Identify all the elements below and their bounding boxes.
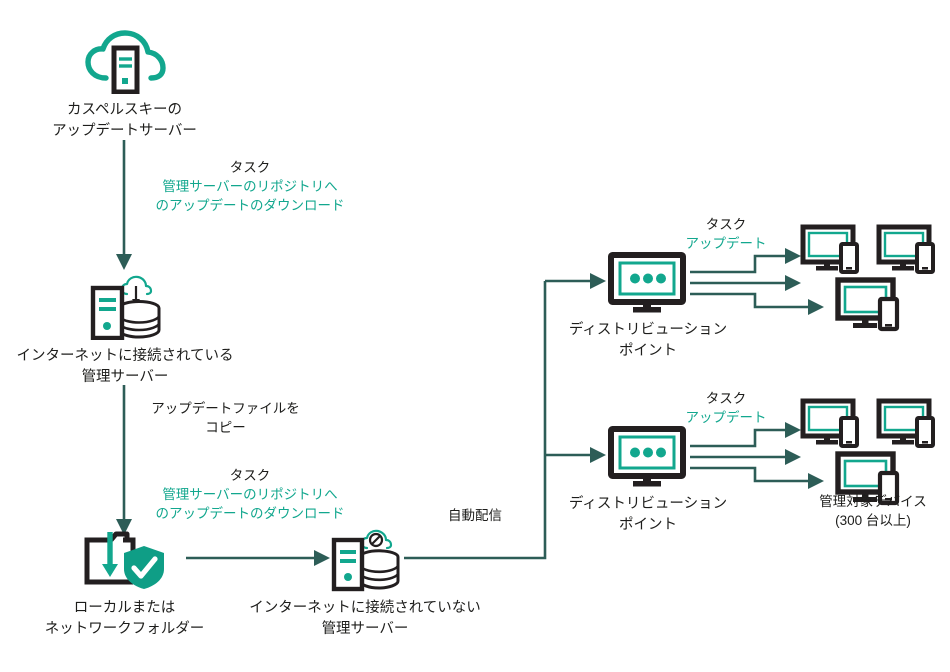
label-line-2: ネットワークフォルダー — [45, 621, 205, 637]
label-line-2: 管理サーバー — [82, 369, 169, 385]
edge-label-line-3: のアップデートのダウンロード — [135, 196, 365, 215]
label-line-1: インターネットに接続されていない — [249, 600, 481, 616]
node-online-admin-server: インターネットに接続されている 管理サーバー — [0, 272, 250, 387]
monitor-phone-icon — [800, 398, 862, 457]
edge-label-line-2: アップデート — [656, 234, 796, 253]
node-label-managed-devices: 管理対象デバイス (300 台以上) — [788, 492, 950, 530]
edge-label-copy-update-files: アップデートファイルを コピー — [133, 399, 318, 437]
label-line-2: ポイント — [619, 517, 677, 533]
node-kaspersky-update-server: カスペルスキーの アップデートサーバー — [22, 28, 227, 141]
label-line-1: ローカルまたは — [74, 600, 176, 616]
server-database-cloud-download-icon — [83, 272, 167, 340]
wire-updateserver-to-onlineserver — [116, 140, 132, 270]
update-distribution-diagram: カスペルスキーの アップデートサーバー タスク 管理サーバーのリポジトリへ のア… — [0, 0, 950, 672]
cloud-server-icon — [84, 28, 166, 94]
monitor-phone-icon — [876, 224, 938, 283]
node-label: ローカルまたは ネットワークフォルダー — [45, 598, 205, 639]
edge-label-update-task-bottom: タスク アップデート — [656, 389, 796, 427]
label-line-2: アップデートサーバー — [52, 123, 197, 139]
label-line-2: ポイント — [619, 343, 677, 359]
folder-download-shield-icon — [77, 530, 173, 592]
edge-label-line-1: 自動配信 — [420, 506, 530, 525]
label-line-2: 管理サーバー — [322, 621, 409, 637]
label-line-1: ディストリビューション — [569, 496, 727, 512]
monitor-phone-icon — [835, 277, 903, 340]
node-distribution-point-top: ディストリビューション ポイント — [542, 252, 754, 361]
monitor-dots-icon — [607, 252, 689, 314]
label-line-1: 管理対象デバイス — [788, 492, 950, 511]
edge-label-line-1: タスク — [656, 389, 796, 408]
node-label: インターネットに接続されている 管理サーバー — [16, 346, 233, 387]
edge-label-line-1: タスク — [656, 215, 796, 234]
edge-label-line-2: アップデート — [656, 408, 796, 427]
edge-label-download-to-server-repository: タスク 管理サーバーのリポジトリへ のアップデートのダウンロード — [135, 158, 365, 215]
node-distribution-point-bottom: ディストリビューション ポイント — [542, 426, 754, 535]
node-local-or-network-folder: ローカルまたは ネットワークフォルダー — [12, 530, 237, 639]
monitor-phone-icon — [876, 398, 938, 457]
node-label: ディストリビューション ポイント — [569, 494, 727, 535]
edge-label-line-2: 管理サーバーのリポジトリへ — [135, 177, 365, 196]
edge-label-line-3: のアップデートのダウンロード — [135, 504, 365, 523]
edge-label-line-1: タスク — [135, 158, 365, 177]
label-line-1: インターネットに接続されている — [16, 348, 233, 364]
edge-label-update-task-top: タスク アップデート — [656, 215, 796, 253]
device-group-top — [800, 224, 950, 334]
node-label: インターネットに接続されていない 管理サーバー — [249, 598, 481, 639]
label-line-1: ディストリビューション — [569, 322, 727, 338]
node-label: カスペルスキーの アップデートサーバー — [52, 100, 197, 141]
edge-label-line-1: アップデートファイルを — [133, 399, 318, 418]
edge-label-line-2: コピー — [133, 418, 318, 437]
label-line-1: カスペルスキーの — [67, 102, 182, 118]
edge-label-line-2: 管理サーバーのリポジトリへ — [135, 485, 365, 504]
node-offline-admin-server: インターネットに接続されていない 管理サーバー — [240, 526, 490, 639]
server-database-cloud-blocked-icon — [323, 526, 407, 592]
monitor-dots-icon — [607, 426, 689, 488]
label-line-2: (300 台以上) — [788, 511, 950, 530]
edge-label-download-to-folder: タスク 管理サーバーのリポジトリへ のアップデートのダウンロード — [135, 466, 365, 523]
edge-label-automatic-distribution: 自動配信 — [420, 506, 530, 525]
edge-label-line-1: タスク — [135, 466, 365, 485]
monitor-phone-icon — [800, 224, 862, 283]
wire-onlineserver-to-folder — [116, 385, 132, 535]
node-label: ディストリビューション ポイント — [569, 320, 727, 361]
